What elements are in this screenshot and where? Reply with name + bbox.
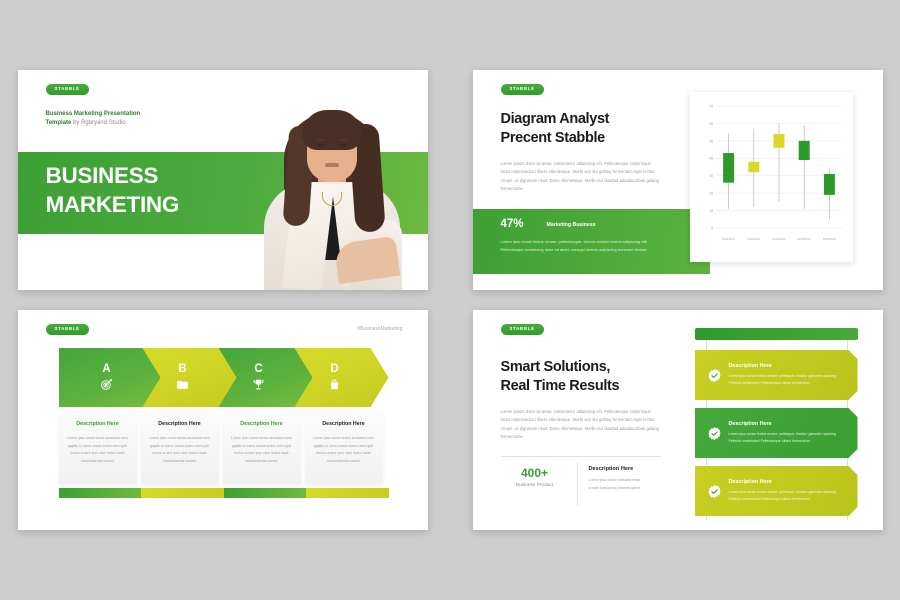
ribbon-item[interactable]: Description HereLorem ipsu conse lectus … xyxy=(695,350,858,400)
footer-bar-segment xyxy=(59,488,142,498)
description-card[interactable]: Description HereLorem ipsu conse lectus … xyxy=(141,412,219,484)
chart-x-tick: 01/02/2022 xyxy=(747,237,761,241)
description-card-title: Description Here xyxy=(148,421,212,429)
chart-x-tick: 01/05/2022 xyxy=(822,237,836,241)
stat-block: 400+ Business Product xyxy=(501,466,569,488)
folder-icon xyxy=(176,378,189,391)
solutions-title-line2: Real Time Results xyxy=(501,377,620,396)
slide-4-solutions[interactable]: STABBLE Smart Solutions, Real Time Resul… xyxy=(473,310,883,530)
process-step-letter: D xyxy=(330,364,338,376)
description-card[interactable]: Description HereLorem ipsu conse lectus … xyxy=(305,412,383,484)
trophy-icon xyxy=(252,378,265,391)
photo-eye-right xyxy=(339,144,346,147)
diagram-stat-label: Marketing Business xyxy=(547,222,596,228)
check-badge-icon xyxy=(707,426,722,441)
photo-lips xyxy=(325,163,339,167)
check-badge-icon xyxy=(707,368,722,383)
footer-bar-segment xyxy=(141,488,224,498)
candlestick-body xyxy=(798,141,809,160)
ribbon-text: Description HereLorem ipsu conse lectus … xyxy=(729,421,846,446)
brand-badge: STABBLE xyxy=(501,84,544,95)
stat-side-note-body: Lorem ipsu conse lectusteremso ornare,lo… xyxy=(589,477,665,493)
cover-subtitle: Business Marketing Presentation Template… xyxy=(46,110,226,127)
chart-y-tick: 20 xyxy=(709,192,713,196)
description-card-body: Lorem ipsu conse lectus larakabut emo ga… xyxy=(312,435,376,466)
footer-bar-segment xyxy=(224,488,307,498)
cover-title: BUSINESS MARKETING xyxy=(46,162,180,220)
ribbon-title: Description Here xyxy=(729,421,846,427)
slide-1-cover[interactable]: STABBLE Business Marketing Presentation … xyxy=(18,70,428,290)
description-card-body: Lorem ipsu conse lectus larakabut emo ga… xyxy=(66,435,130,466)
chart-x-tick: 01/03/2022 xyxy=(772,237,786,241)
cover-title-line2: MARKETING xyxy=(46,191,180,220)
ribbon-item[interactable]: Description HereLorem ipsu conse lectus … xyxy=(695,466,858,516)
check-badge-icon xyxy=(707,484,722,499)
process-diagram: ABCD Description HereLorem ipsu conse le… xyxy=(59,348,389,498)
stat-number: 400+ xyxy=(501,466,569,481)
vertical-divider xyxy=(577,462,578,506)
cover-subtitle-author: by Rgbryand Studio xyxy=(71,120,125,126)
chart-y-tick: 0 xyxy=(711,226,713,230)
ribbon-title: Description Here xyxy=(729,363,846,369)
chart-x-tick: 01/04/2022 xyxy=(797,237,811,241)
diagram-stat-value: 47% xyxy=(501,218,524,230)
brand-badge: STABBLE xyxy=(46,324,89,335)
chevron-row: ABCD xyxy=(59,348,389,407)
process-footer-bar xyxy=(59,488,389,498)
candlestick-body xyxy=(823,174,834,195)
description-card[interactable]: Description HereLorem ipsu conse lectus … xyxy=(59,412,137,484)
target-icon xyxy=(100,378,113,391)
chart-y-tick: 50 xyxy=(709,139,713,143)
diagram-title-line1: Diagram Analyst xyxy=(501,110,610,129)
candlestick-body xyxy=(773,134,784,148)
photo-brow-right xyxy=(338,139,347,141)
footer-bar-segment xyxy=(306,488,389,498)
ribbon-title: Description Here xyxy=(729,479,846,485)
ribbon-text: Description HereLorem ipsu conse lectus … xyxy=(729,363,846,388)
description-card-title: Description Here xyxy=(230,421,294,429)
cover-subtitle-line1: Business Marketing Presentation xyxy=(46,110,226,119)
shopping-bag-icon xyxy=(328,378,341,391)
candlestick-body xyxy=(748,162,759,172)
photo-hair-front xyxy=(302,110,362,150)
ribbon-body: Lorem ipsu conse lectus ornare, pellesqu… xyxy=(729,431,846,446)
chart-x-tick: 01/01/2022 xyxy=(722,237,736,241)
stat-caption: Business Product xyxy=(501,483,569,488)
diagram-title-line2: Precent Stabble xyxy=(501,129,610,148)
process-step-letter: B xyxy=(178,364,186,376)
ribbon-list-header-bar xyxy=(695,328,858,340)
description-card[interactable]: Description HereLorem ipsu conse lectus … xyxy=(223,412,301,484)
photo-brow-left xyxy=(317,139,326,141)
brand-badge: STABBLE xyxy=(46,84,89,95)
process-step-letter: A xyxy=(102,364,110,376)
ribbon-body: Lorem ipsu conse lectus ornare, pellesqu… xyxy=(729,489,846,504)
stat-side-note: Description Here Lorem ipsu conse lectus… xyxy=(589,466,665,493)
chart-y-tick: 40 xyxy=(709,157,713,161)
process-step-letter: C xyxy=(254,364,262,376)
description-card-body: Lorem ipsu conse lectus larakabut emo ga… xyxy=(148,435,212,466)
ribbon-list: Description HereLorem ipsu conse lectus … xyxy=(689,328,867,520)
ribbon-item[interactable]: Description HereLorem ipsu conse lectus … xyxy=(695,408,858,458)
diagram-band-body: Lorem ipsu conse lectus ornare, pellente… xyxy=(501,238,661,255)
process-step-a[interactable]: A xyxy=(59,348,161,407)
solutions-body-text: Lorem ipsum dolor sit amet, consectetur … xyxy=(501,408,661,442)
chart-y-tick: 10 xyxy=(709,209,713,213)
chart-y-tick: 30 xyxy=(709,174,713,178)
description-card-title: Description Here xyxy=(66,421,130,429)
cover-photo xyxy=(258,100,406,290)
solutions-title: Smart Solutions, Real Time Results xyxy=(501,358,620,396)
description-card-title: Description Here xyxy=(312,421,376,429)
description-card-row: Description HereLorem ipsu conse lectus … xyxy=(59,412,389,484)
solutions-title-line1: Smart Solutions, xyxy=(501,358,620,377)
ribbon-body: Lorem ipsu conse lectus ornare, pellesqu… xyxy=(729,373,846,388)
hashtag-label: #BusinessMarketing xyxy=(357,326,402,332)
divider xyxy=(501,456,661,457)
slide-board: STABBLE Business Marketing Presentation … xyxy=(0,0,900,600)
candlestick-body xyxy=(723,153,734,183)
description-card-body: Lorem ipsu conse lectus larakabut emo ga… xyxy=(230,435,294,466)
cover-title-line1: BUSINESS xyxy=(46,162,180,191)
stat-side-note-title: Description Here xyxy=(589,466,665,472)
diagram-title: Diagram Analyst Precent Stabble xyxy=(501,110,610,148)
candlestick-chart-card: 01020304050607001/01/202201/02/202201/03… xyxy=(690,92,853,262)
slide-2-diagram[interactable]: STABBLE Diagram Analyst Precent Stabble … xyxy=(473,70,883,290)
ribbon-text: Description HereLorem ipsu conse lectus … xyxy=(729,479,846,504)
cover-subtitle-line2: Template by Rgbryand Studio xyxy=(46,119,226,128)
photo-eye-left xyxy=(318,144,325,147)
slide-3-process[interactable]: STABBLE #BusinessMarketing ABCD Descript… xyxy=(18,310,428,530)
chart-y-tick: 70 xyxy=(709,104,713,108)
cover-subtitle-template-word: Template xyxy=(46,120,72,126)
diagram-body-text: Lorem ipsum dolor sit amet, consectetur … xyxy=(501,160,661,194)
chart-y-tick: 60 xyxy=(709,122,713,126)
candlestick-chart: 01020304050607001/01/202201/02/202201/03… xyxy=(690,92,853,262)
brand-badge: STABBLE xyxy=(501,324,544,335)
